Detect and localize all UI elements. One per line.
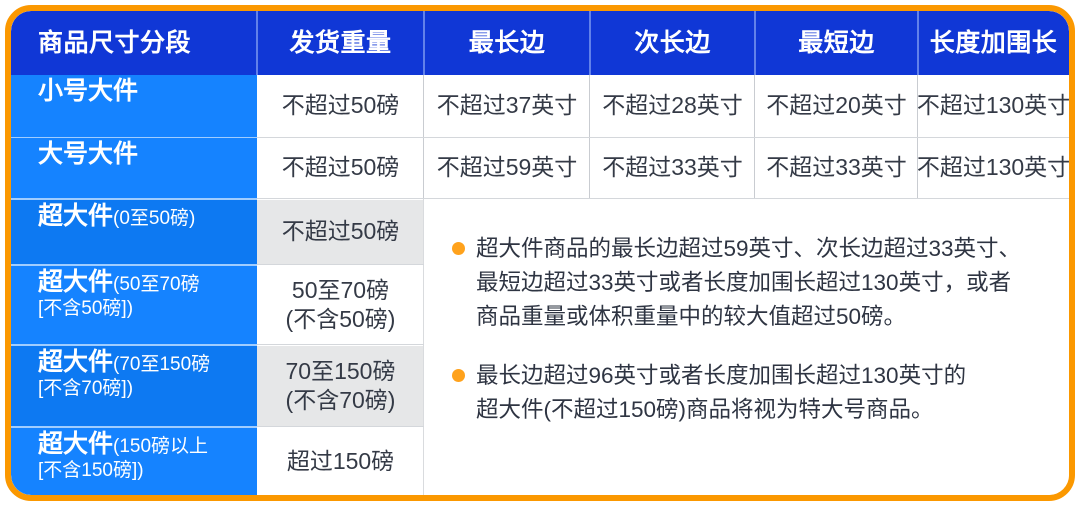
category-sub-text: (70至150磅 (113, 354, 210, 375)
weight-value-note: (不含70磅) (286, 386, 396, 415)
longest-side-cell: 不超过59英寸 (424, 138, 590, 198)
shortest-side-value: 不超过33英寸 (766, 153, 907, 182)
shortest-side-cell: 不超过20英寸 (755, 75, 918, 137)
bullet-icon (452, 369, 465, 382)
table-row: 小号大件 (11, 75, 257, 137)
note-line: 超大件商品的最长边超过59英寸、次长边超过33英寸、 (476, 232, 1021, 266)
median-side-cell: 不超过28英寸 (590, 75, 755, 137)
category-sub-text: (50至70磅 (113, 274, 200, 295)
note-text: 超大件商品的最长边超过59英寸、次长边超过33英寸、 最短边超过33英寸或者长度… (476, 232, 1021, 333)
shortest-side-cell: 不超过33英寸 (755, 138, 918, 198)
row-divider-2 (257, 198, 1069, 199)
weight-cell: 不超过50磅 (257, 75, 424, 137)
header-divider-3 (589, 11, 591, 75)
header-divider-5 (917, 11, 919, 75)
header-divider-2 (423, 11, 425, 75)
longest-side-cell: 不超过37英寸 (424, 75, 590, 137)
note-line: 最短边超过33英寸或者长度加围长超过130英寸，或者 (476, 266, 1021, 300)
category-main-label: 超大件(70至150磅 (38, 346, 210, 378)
row-divider-1 (257, 137, 1069, 138)
table-row: 超大件(70至150磅 [不含70磅]) (11, 346, 257, 426)
bullet-icon (452, 242, 465, 255)
girth-cell: 不超过130英寸 (918, 138, 1069, 198)
header-divider-4 (754, 11, 756, 75)
weight-cell: 超过150磅 (257, 428, 424, 495)
weight-cell: 70至150磅 (不含70磅) (257, 346, 424, 426)
category-main-label: 超大件(50至70磅 (38, 266, 200, 298)
row-divider-3 (257, 264, 424, 265)
table-row: 超大件(0至50磅) (11, 200, 257, 264)
orange-frame: 商品尺寸分段 发货重量 最长边 次长边 最短边 长度加围长 小号大件 大号大件 (5, 5, 1075, 501)
size-tier-table-graphic: 商品尺寸分段 发货重量 最长边 次长边 最短边 长度加围长 小号大件 大号大件 (0, 0, 1080, 506)
weight-cell: 不超过50磅 (257, 138, 424, 198)
table-row: 超大件(50至70磅 [不含50磅]) (11, 266, 257, 344)
weight-value: 不超过50磅 (282, 217, 400, 246)
weight-value: 不超过50磅 (282, 153, 400, 182)
table-row: 超大件(150磅以上 [不含150磅]) (11, 428, 257, 495)
notes-panel: 超大件商品的最长边超过59英寸、次长边超过33英寸、 最短边超过33英寸或者长度… (424, 204, 1069, 495)
category-main-label: 超大件(0至50磅) (38, 200, 195, 232)
table-row: 大号大件 (11, 138, 257, 198)
weight-cell: 不超过50磅 (257, 200, 424, 264)
weight-value: 70至150磅 (286, 357, 396, 386)
note-line: 超大件(不超过150磅)商品将视为特大号商品。 (476, 393, 966, 427)
table-header-cell-category: 商品尺寸分段 (11, 11, 257, 75)
category-main-text: 超大件 (38, 268, 113, 296)
category-main-text: 超大件 (38, 430, 113, 458)
weight-value: 50至70磅 (292, 276, 389, 305)
table-header-cell-median: 次长边 (590, 11, 755, 75)
median-side-value: 不超过33英寸 (602, 153, 743, 182)
category-main-label: 大号大件 (38, 138, 138, 170)
category-main-text: 超大件 (38, 348, 113, 376)
longest-side-value: 不超过59英寸 (437, 153, 578, 182)
median-side-value: 不超过28英寸 (602, 91, 743, 120)
median-side-cell: 不超过33英寸 (590, 138, 755, 198)
note-text: 最长边超过96英寸或者长度加围长超过130英寸的 超大件(不超过150磅)商品将… (476, 359, 966, 427)
row-divider-4 (257, 344, 424, 345)
note-item: 最长边超过96英寸或者长度加围长超过130英寸的 超大件(不超过150磅)商品将… (452, 359, 1047, 427)
girth-value: 不超过130英寸 (917, 153, 1069, 182)
note-line: 最长边超过96英寸或者长度加围长超过130英寸的 (476, 359, 966, 393)
category-main-label: 超大件(150磅以上 (38, 428, 208, 460)
table-header-cell-longest: 最长边 (424, 11, 590, 75)
note-item: 超大件商品的最长边超过59英寸、次长边超过33英寸、 最短边超过33英寸或者长度… (452, 232, 1047, 333)
category-sub2-text: [不含150磅]) (38, 459, 144, 483)
table-header-cell-shortest: 最短边 (755, 11, 918, 75)
table-header-cell-weight: 发货重量 (257, 11, 424, 75)
girth-value: 不超过130英寸 (917, 91, 1069, 120)
weight-value: 超过150磅 (287, 447, 394, 476)
weight-cell: 50至70磅 (不含50磅) (257, 266, 424, 344)
category-main-label: 小号大件 (38, 75, 138, 107)
girth-cell: 不超过130英寸 (918, 75, 1069, 137)
table-container: 商品尺寸分段 发货重量 最长边 次长边 最短边 长度加围长 小号大件 大号大件 (11, 11, 1069, 495)
row-divider-5 (257, 426, 424, 427)
category-main-text: 超大件 (38, 202, 113, 230)
category-sub2-text: [不含70磅]) (38, 377, 133, 401)
longest-side-value: 不超过37英寸 (437, 91, 578, 120)
category-sub-text: (150磅以上 (113, 436, 208, 457)
header-divider-1 (256, 11, 258, 75)
table-header-cell-girth: 长度加围长 (918, 11, 1069, 75)
note-line: 商品重量或体积重量中的较大值超过50磅。 (476, 300, 1021, 334)
weight-value-note: (不含50磅) (286, 305, 396, 334)
weight-value: 不超过50磅 (282, 91, 400, 120)
category-sub2-text: [不含50磅]) (38, 297, 133, 321)
category-sub-text: (0至50磅) (113, 208, 195, 229)
shortest-side-value: 不超过20英寸 (766, 91, 907, 120)
